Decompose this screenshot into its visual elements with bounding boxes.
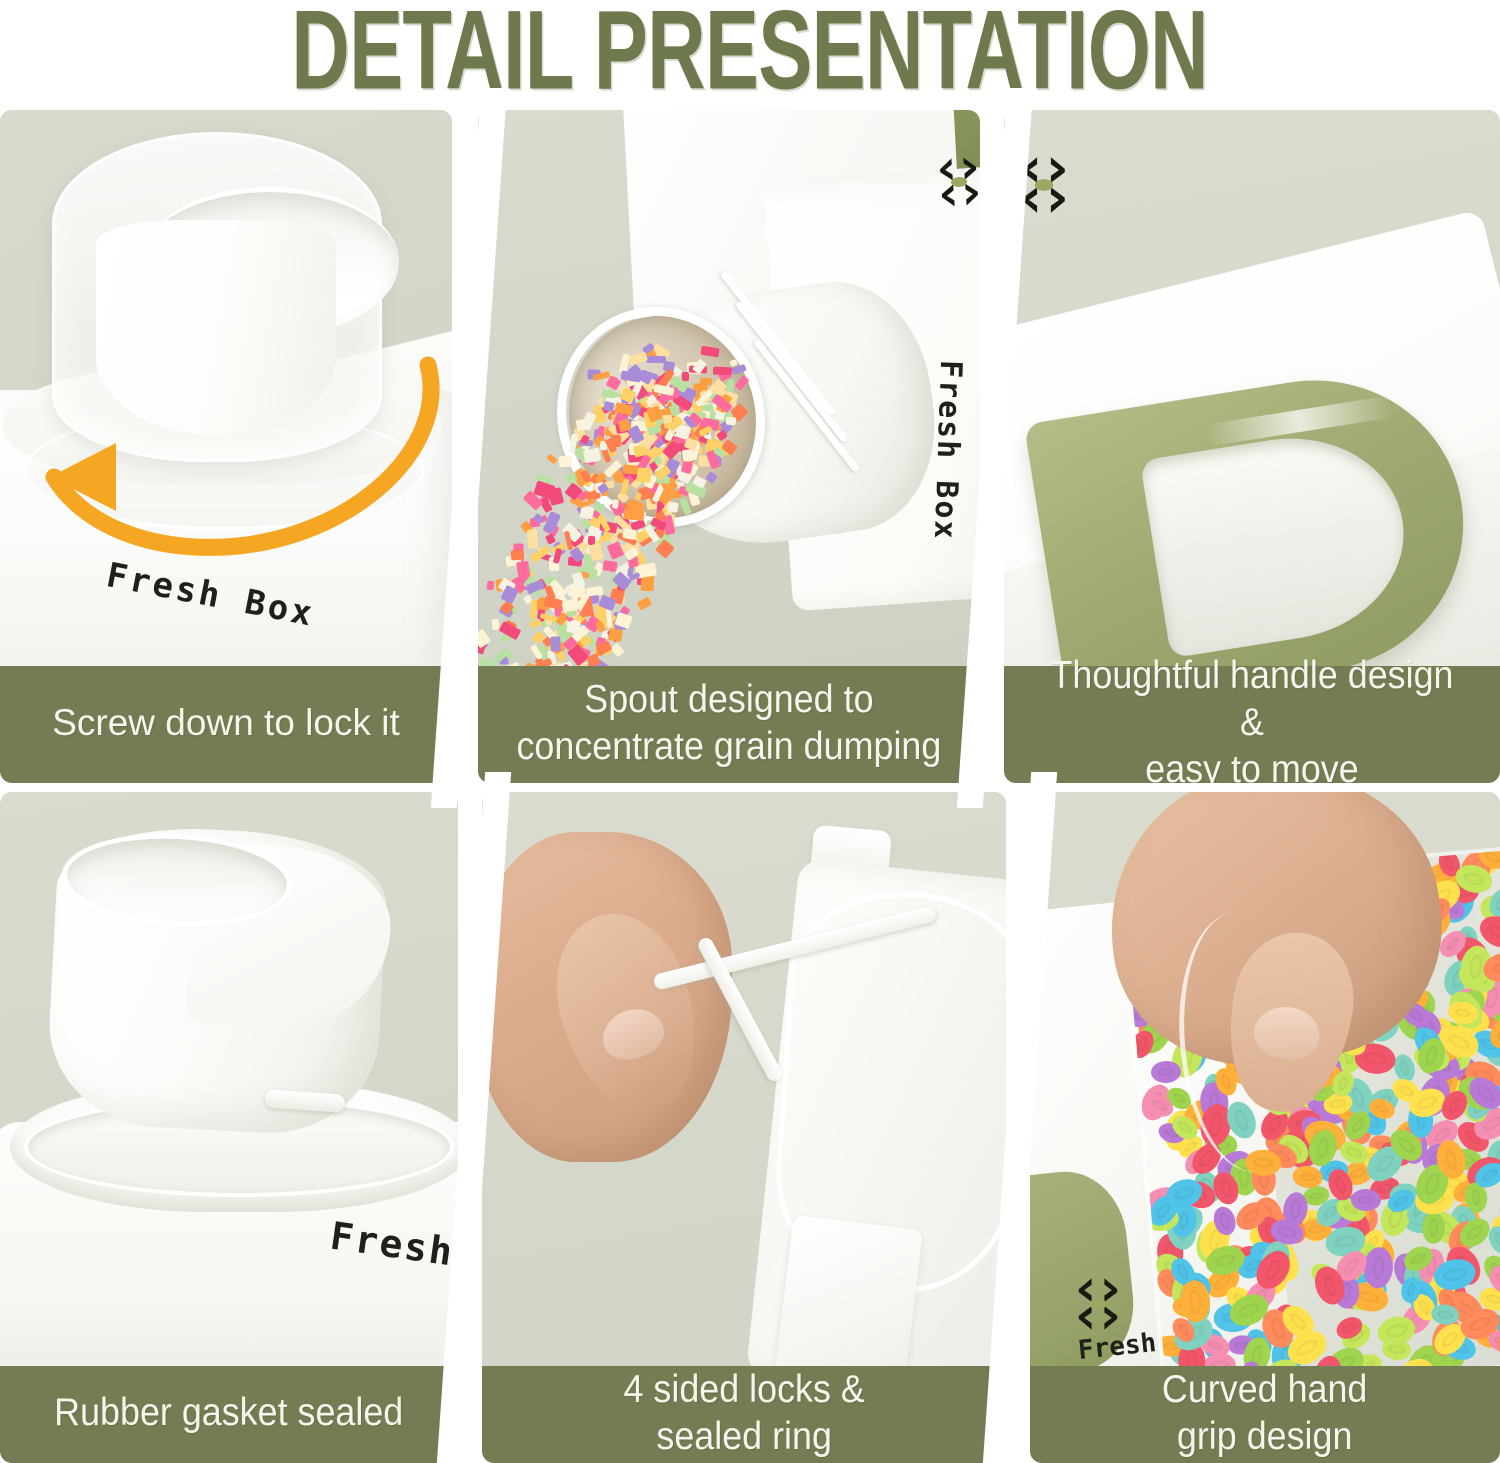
caption-text-line-2: grip design <box>1162 1413 1367 1460</box>
caption-gasket: Rubber gasket sealed <box>0 1366 458 1463</box>
caption-text-line-1: Spout designed to <box>517 676 942 723</box>
detail-presentation-page: DETAIL PRESENTATION <box>0 0 1500 1463</box>
caption-text-line-1: Thoughtful handle design & <box>1037 652 1468 746</box>
caption-text-line-2: concentrate grain dumping <box>517 723 942 770</box>
caption-text-line-2: sealed ring <box>623 1413 864 1460</box>
diamond-bracket-logo-icon <box>1070 1272 1126 1336</box>
brand-text-cell2: Fresh Box <box>927 359 968 541</box>
photo-handle <box>1004 110 1500 666</box>
caption-text-line-1: 4 sided locks & <box>623 1366 864 1413</box>
caption-text-line-1: Screw down to lock it <box>52 700 400 746</box>
caption-handle: Thoughtful handle design & easy to move <box>1004 666 1500 783</box>
feature-card-screw-lock[interactable]: Fresh Box Screw down to lock it <box>0 110 452 783</box>
caption-spout: Spout designed to concentrate grain dump… <box>478 666 980 783</box>
side-lock-shape <box>771 1215 923 1366</box>
photo-spout: Fresh Box <box>478 110 980 666</box>
caption-grip: Curved hand grip design <box>1030 1366 1500 1463</box>
caption-screw-lock: Screw down to lock it <box>0 666 452 783</box>
caption-locks: 4 sided locks & sealed ring <box>482 1366 1006 1463</box>
feature-grid: Fresh Box Screw down to lock it <box>0 108 1500 1463</box>
feature-card-gasket[interactable]: Fresh Rubber gasket sealed <box>0 792 458 1463</box>
photo-gasket: Fresh <box>0 792 458 1366</box>
page-title: DETAIL PRESENTATION <box>292 0 1209 102</box>
caption-text-line-1: Rubber gasket sealed <box>54 1389 403 1436</box>
photo-hand-grip: Fresh <box>1030 792 1500 1366</box>
caption-text-line-1: Curved hand <box>1162 1366 1367 1413</box>
photo-sealed-ring <box>482 792 1006 1366</box>
caption-text-line-2: easy to move <box>1037 746 1468 783</box>
rotate-arrow-icon <box>20 335 450 565</box>
diamond-bracket-logo-icon <box>931 150 980 213</box>
feature-card-grip[interactable]: Fresh Curved hand grip design <box>1030 792 1500 1463</box>
photo-screw-lock: Fresh Box <box>0 110 452 666</box>
feature-card-handle[interactable]: Thoughtful handle design & easy to move <box>1004 110 1500 783</box>
feature-card-locks[interactable]: 4 sided locks & sealed ring <box>482 792 1006 1463</box>
feature-card-spout[interactable]: Fresh Box Spout designed to concentrate … <box>478 110 980 783</box>
page-title-bar: DETAIL PRESENTATION <box>0 0 1500 100</box>
